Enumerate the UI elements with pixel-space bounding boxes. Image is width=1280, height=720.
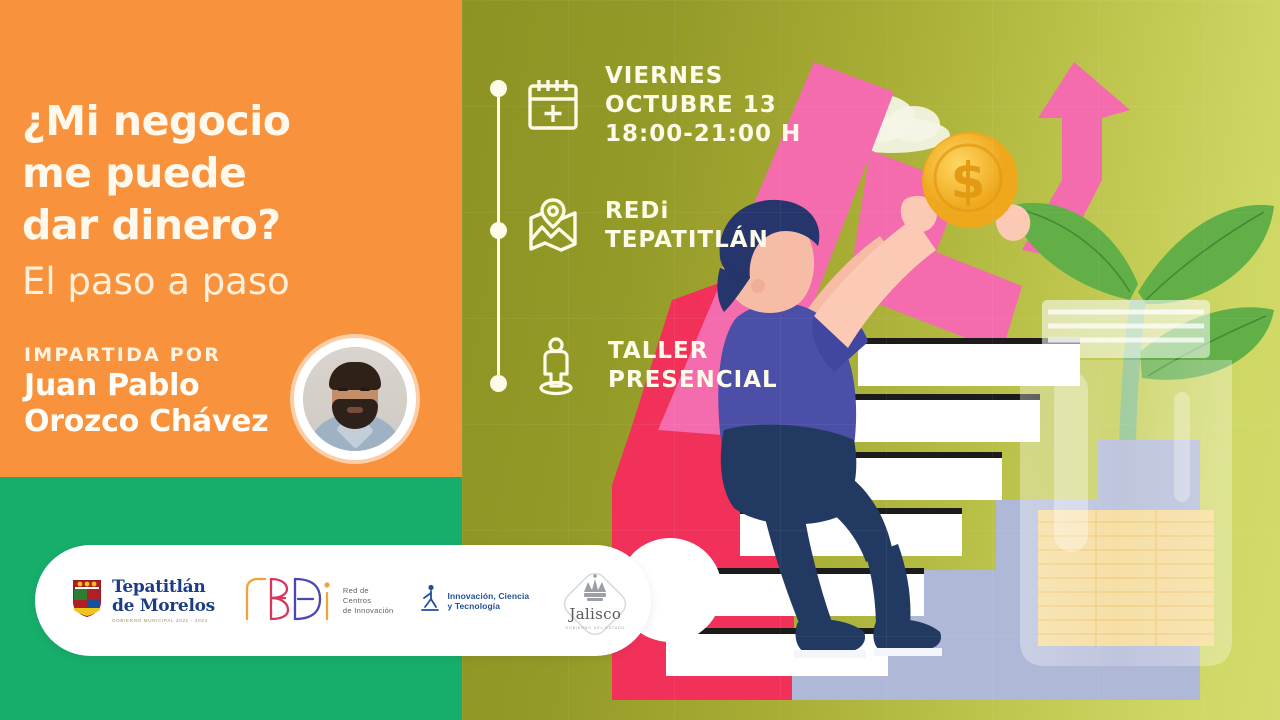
presenter-block: IMPARTIDA POR Juan Pablo Orozco Chávez <box>24 342 304 440</box>
detail-row-date: VIERNES OCTUBRE 13 18:00-21:00 H <box>525 62 801 149</box>
tepatitlan-coat-of-arms-icon <box>71 578 103 623</box>
tepatitlan-line-2: de Morelos <box>112 597 215 616</box>
detail-text-location: REDi TEPATITLÁN <box>605 197 769 255</box>
logo-jalisco: Jalisco GOBIERNO DEL ESTADO <box>559 562 631 640</box>
detail-text-date: VIERNES OCTUBRE 13 18:00-21:00 H <box>605 62 801 149</box>
timeline-dot-1 <box>490 80 507 97</box>
jalisco-emblem: Jalisco GOBIERNO DEL ESTADO <box>559 562 631 640</box>
avatar-photo <box>303 347 407 451</box>
jalisco-subtitle: GOBIERNO DEL ESTADO <box>559 626 631 630</box>
redi-wordmark-icon <box>241 573 333 628</box>
presenter-name-line-1: Juan Pablo <box>24 368 304 404</box>
standing-person-icon <box>528 336 584 396</box>
tepatitlan-line-1: Tepatitlán <box>112 578 215 597</box>
gold-coin-illustration: $ <box>922 132 1018 228</box>
logo-innovacion-ciencia-tecnologia: Innovación, Ciencia y Tecnología <box>419 583 530 618</box>
timeline-dot-3 <box>490 375 507 392</box>
tepatitlan-subtitle: GOBIERNO MUNICIPAL 2021 - 2024 <box>112 619 215 624</box>
redi-tagline-line-2: Centros <box>343 596 394 606</box>
detail-row-location: REDi TEPATITLÁN <box>525 196 769 256</box>
redi-tagline: Red de Centros de Innovación <box>343 586 394 616</box>
ict-line-1: Innovación, Ciencia <box>448 591 530 601</box>
presenter-name-line-2: Orozco Chávez <box>24 404 304 440</box>
coin-dollar-symbol: $ <box>951 152 986 210</box>
title-line-1: ¿Mi negocio <box>22 95 442 147</box>
title-line-3: dar dinero? <box>22 199 442 251</box>
coin-jar-illustration <box>1020 300 1232 666</box>
calendar-icon <box>525 76 581 136</box>
redi-tagline-line-1: Red de <box>343 586 394 596</box>
shoe-lower <box>794 619 866 658</box>
timeline-dot-2 <box>490 222 507 239</box>
leaf-upper-right <box>1138 205 1274 304</box>
logo-redi: Red de Centros de Innovación <box>241 573 394 628</box>
ict-wordmark: Innovación, Ciencia y Tecnología <box>448 591 530 611</box>
title-block: ¿Mi negocio me puede dar dinero? El paso… <box>22 95 442 305</box>
ict-line-2: y Tecnología <box>448 601 530 611</box>
detail-text-format: TALLER PRESENCIAL <box>608 337 778 395</box>
redi-tagline-line-3: de Innovación <box>343 606 394 616</box>
logo-bar: Tepatitlán de Morelos GOBIERNO MUNICIPAL… <box>35 545 651 656</box>
title-line-2: me puede <box>22 147 442 199</box>
map-pin-icon <box>525 196 581 256</box>
tepatitlan-wordmark: Tepatitlán de Morelos GOBIERNO MUNICIPAL… <box>112 578 215 624</box>
logo-tepatitlan: Tepatitlán de Morelos GOBIERNO MUNICIPAL… <box>71 578 215 624</box>
subtitle: El paso a paso <box>22 259 442 305</box>
microscope-icon <box>419 583 441 618</box>
jalisco-word: Jalisco <box>569 605 621 623</box>
poster-canvas: $ ¿Mi negocio me puede dar dinero? El pa… <box>0 0 1280 720</box>
presenter-label: IMPARTIDA POR <box>24 342 304 368</box>
presenter-avatar <box>294 338 416 460</box>
detail-row-format: TALLER PRESENCIAL <box>528 336 778 396</box>
